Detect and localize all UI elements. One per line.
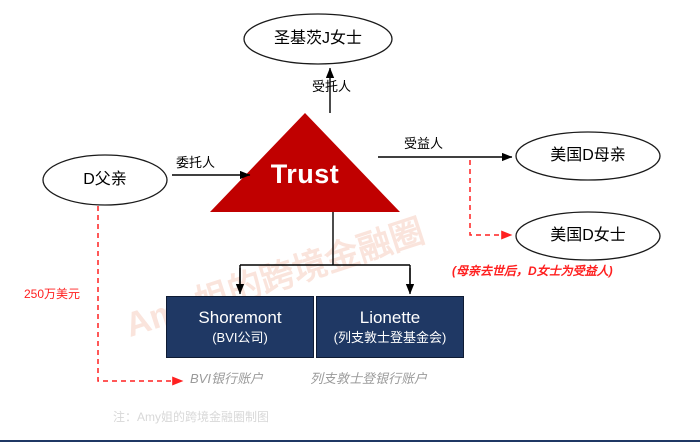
edge-label-beneficiary-role: 受益人 (404, 133, 443, 152)
foundation-li-subtitle: (列支敦士登基金会) (334, 330, 447, 346)
edge-successor-beneficiary-dashed (470, 160, 512, 235)
company-bvi-box[interactable]: Shoremont (BVI公司) (166, 296, 314, 358)
beneficiary-mother-label: 美国D母亲 (516, 141, 660, 171)
succession-note: (母亲去世后，D女士为受益人) (452, 262, 613, 279)
foundation-li-box[interactable]: Lionette (列支敦士登基金会) (316, 296, 464, 358)
diagram-canvas: Amy姐的跨境金融圈 圣基茨J女士 (0, 0, 700, 442)
trust-label: Trust (245, 158, 365, 192)
foundation-li-title: Lionette (360, 309, 421, 328)
company-bvi-subtitle: (BVI公司) (212, 330, 268, 346)
funding-amount-label: 250万美元 (24, 285, 80, 302)
company-bvi-title: Shoremont (198, 309, 281, 328)
beneficiary-daughter-label: 美国D女士 (516, 221, 660, 251)
edge-label-trustee-role: 受托人 (312, 76, 351, 95)
edge-trust-fork (240, 212, 410, 292)
footer-note: 注：Amy姐的跨境金融圈制图 (113, 408, 269, 425)
settlor-label: D父亲 (43, 165, 167, 195)
trustee-label: 圣基茨J女士 (244, 24, 392, 54)
edge-label-settlor-role: 委托人 (176, 152, 215, 171)
account-bvi-label: BVI银行账户 (190, 368, 263, 387)
account-li-label: 列支敦士登银行账户 (310, 368, 427, 387)
